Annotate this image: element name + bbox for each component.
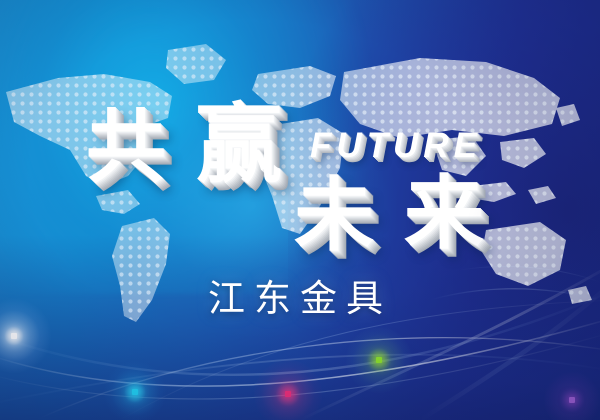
headline-char-lai: 来: [404, 174, 484, 254]
promo-banner: 共 赢 FUTURE 未 来 江东金具: [0, 0, 600, 420]
headline-block: 共 赢 FUTURE 未 来 江东金具: [0, 0, 600, 420]
headline-line-2: 未 来: [0, 176, 600, 268]
headline-char-wei: 未: [294, 176, 374, 256]
headline-latin-future: FUTURE: [310, 128, 482, 163]
company-name-subtitle: 江东金具: [0, 268, 600, 322]
